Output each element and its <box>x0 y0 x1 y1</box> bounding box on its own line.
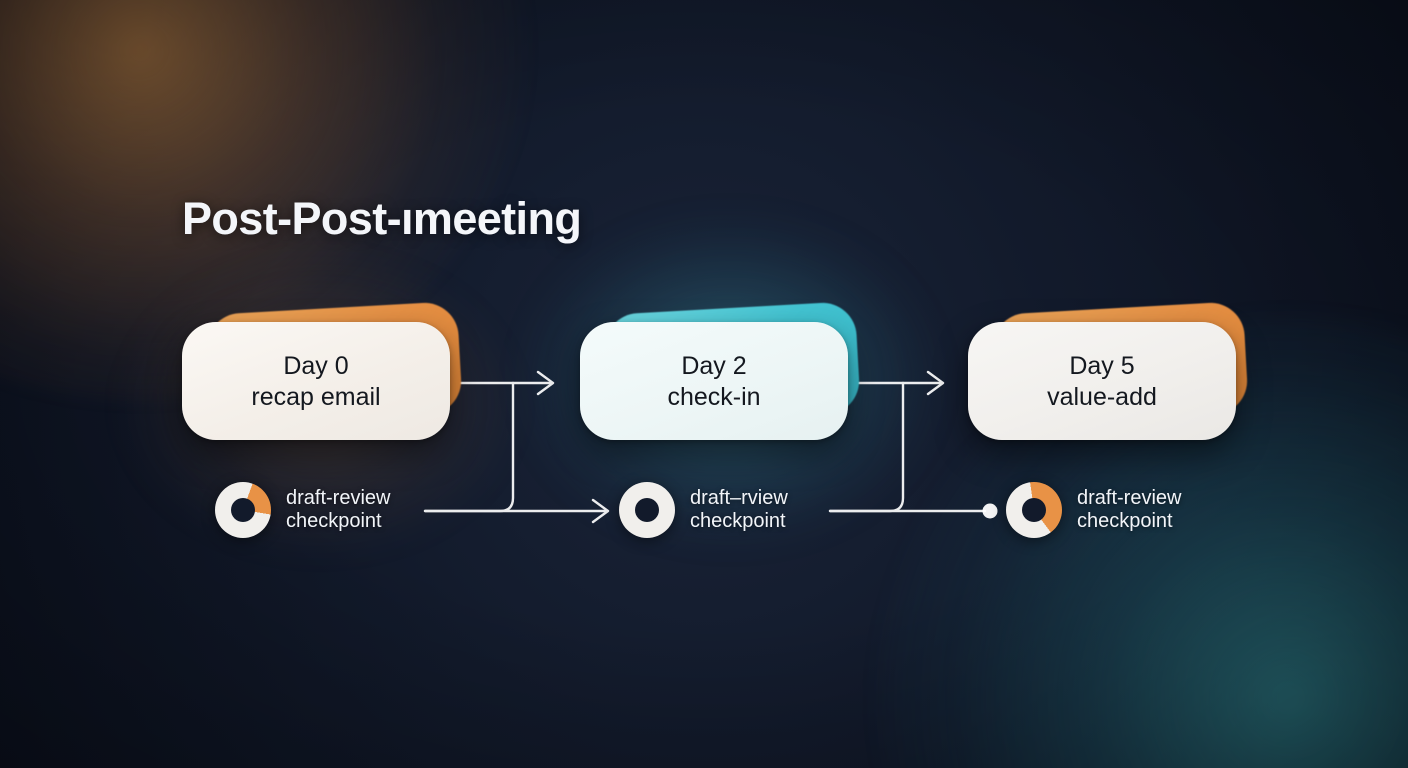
page-title: Post-Post-ımeeting <box>182 193 581 245</box>
checkpoint-item-3[interactable]: draft-review checkpoint <box>1006 482 1181 538</box>
progress-donut-icon <box>1006 482 1062 538</box>
arrowhead-card2-to-card3 <box>928 372 943 394</box>
card-face: Day 2 check-in <box>580 322 848 440</box>
checkpoint-label-line1: draft–rview <box>690 487 788 510</box>
canvas-background: Post-Post-ımeeting Day 0 recap emai <box>0 0 1408 768</box>
arrowhead-to-checkpoint2 <box>593 500 608 522</box>
checkpoint-item-2[interactable]: draft–rview checkpoint <box>619 482 788 538</box>
card-subtitle: recap email <box>251 383 380 411</box>
checkpoint-label: draft–rview checkpoint <box>690 487 788 534</box>
card-title: Day 0 <box>283 352 348 380</box>
progress-donut-icon <box>215 482 271 538</box>
card-subtitle: check-in <box>667 383 760 411</box>
checkpoint-label-line2: checkpoint <box>690 510 788 533</box>
checkpoint-item-1[interactable]: draft-review checkpoint <box>215 482 390 538</box>
arrowhead-card1-to-card2 <box>538 372 553 394</box>
progress-donut-icon <box>619 482 675 538</box>
checkpoint-label: draft-review checkpoint <box>1077 487 1181 534</box>
flow-card-day-2[interactable]: Day 2 check-in <box>580 322 848 440</box>
card-face: Day 0 recap email <box>182 322 450 440</box>
checkpoint-label-line2: checkpoint <box>1077 510 1181 533</box>
card-title: Day 5 <box>1069 352 1134 380</box>
checkpoint-label: draft-review checkpoint <box>286 487 390 534</box>
connector-endpoint-dot <box>983 504 998 519</box>
card-face: Day 5 value-add <box>968 322 1236 440</box>
card-subtitle: value-add <box>1047 383 1157 411</box>
checkpoint-label-line1: draft-review <box>1077 487 1181 510</box>
card-title: Day 2 <box>681 352 746 380</box>
checkpoint-label-line2: checkpoint <box>286 510 390 533</box>
checkpoint-label-line1: draft-review <box>286 487 390 510</box>
flow-card-day-5[interactable]: Day 5 value-add <box>968 322 1236 440</box>
flow-card-day-0[interactable]: Day 0 recap email <box>182 322 450 440</box>
